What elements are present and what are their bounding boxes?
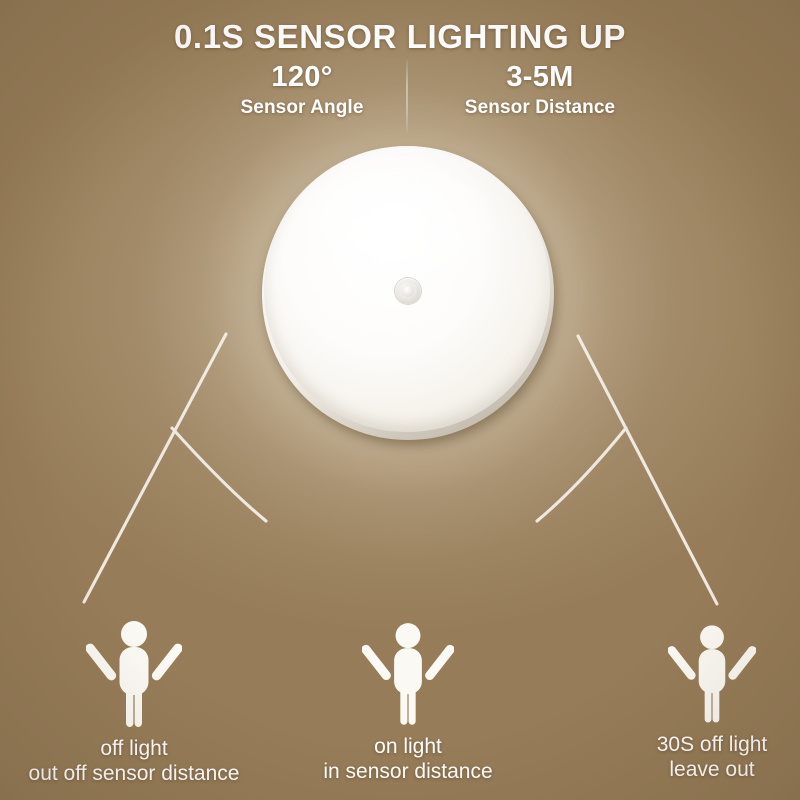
state-in-range: on light in sensor distance	[290, 620, 526, 784]
product-infographic: 0.1S SENSOR LIGHTING UP 120° Sensor Angl…	[0, 0, 800, 800]
pir-sensor-dome-icon	[395, 278, 421, 304]
state-leave-out: 30S off light leave out	[590, 622, 800, 782]
lamp-highlight	[292, 164, 502, 294]
page-title: 0.1S SENSOR LIGHTING UP	[0, 18, 800, 56]
person-arms-raised-icon	[668, 622, 756, 724]
person-arms-raised-icon	[86, 618, 182, 728]
sensor-light-product	[258, 144, 558, 446]
spec-sensor-angle-label: Sensor Angle	[172, 96, 432, 120]
spec-sensor-angle-value: 120°	[172, 60, 432, 94]
beam-line-right	[578, 336, 717, 604]
spec-sensor-distance-value: 3-5M	[410, 60, 670, 94]
state-out-of-range: off light out off sensor distance	[0, 618, 274, 786]
state-leave-out-caption: 30S off light leave out	[590, 732, 800, 782]
state-leave-out-line1: 30S off light	[657, 733, 768, 756]
person-arms-raised-icon	[362, 620, 454, 726]
state-leave-out-line2: leave out	[590, 757, 800, 782]
spec-divider	[406, 60, 408, 132]
spec-sensor-angle: 120° Sensor Angle	[172, 60, 432, 120]
spec-sensor-distance: 3-5M Sensor Distance	[410, 60, 670, 120]
spec-sensor-distance-label: Sensor Distance	[410, 96, 670, 120]
state-in-range-caption: on light in sensor distance	[290, 734, 526, 784]
state-in-range-line1: on light	[374, 735, 442, 758]
beam-arc-left	[172, 428, 266, 521]
state-out-of-range-caption: off light out off sensor distance	[0, 736, 274, 786]
state-out-of-range-line1: off light	[100, 737, 167, 760]
state-in-range-line2: in sensor distance	[290, 759, 526, 784]
spec-row: 120° Sensor Angle 3-5M Sensor Distance	[0, 60, 800, 134]
beam-line-left	[84, 334, 226, 602]
state-out-of-range-line2: out off sensor distance	[0, 761, 274, 786]
